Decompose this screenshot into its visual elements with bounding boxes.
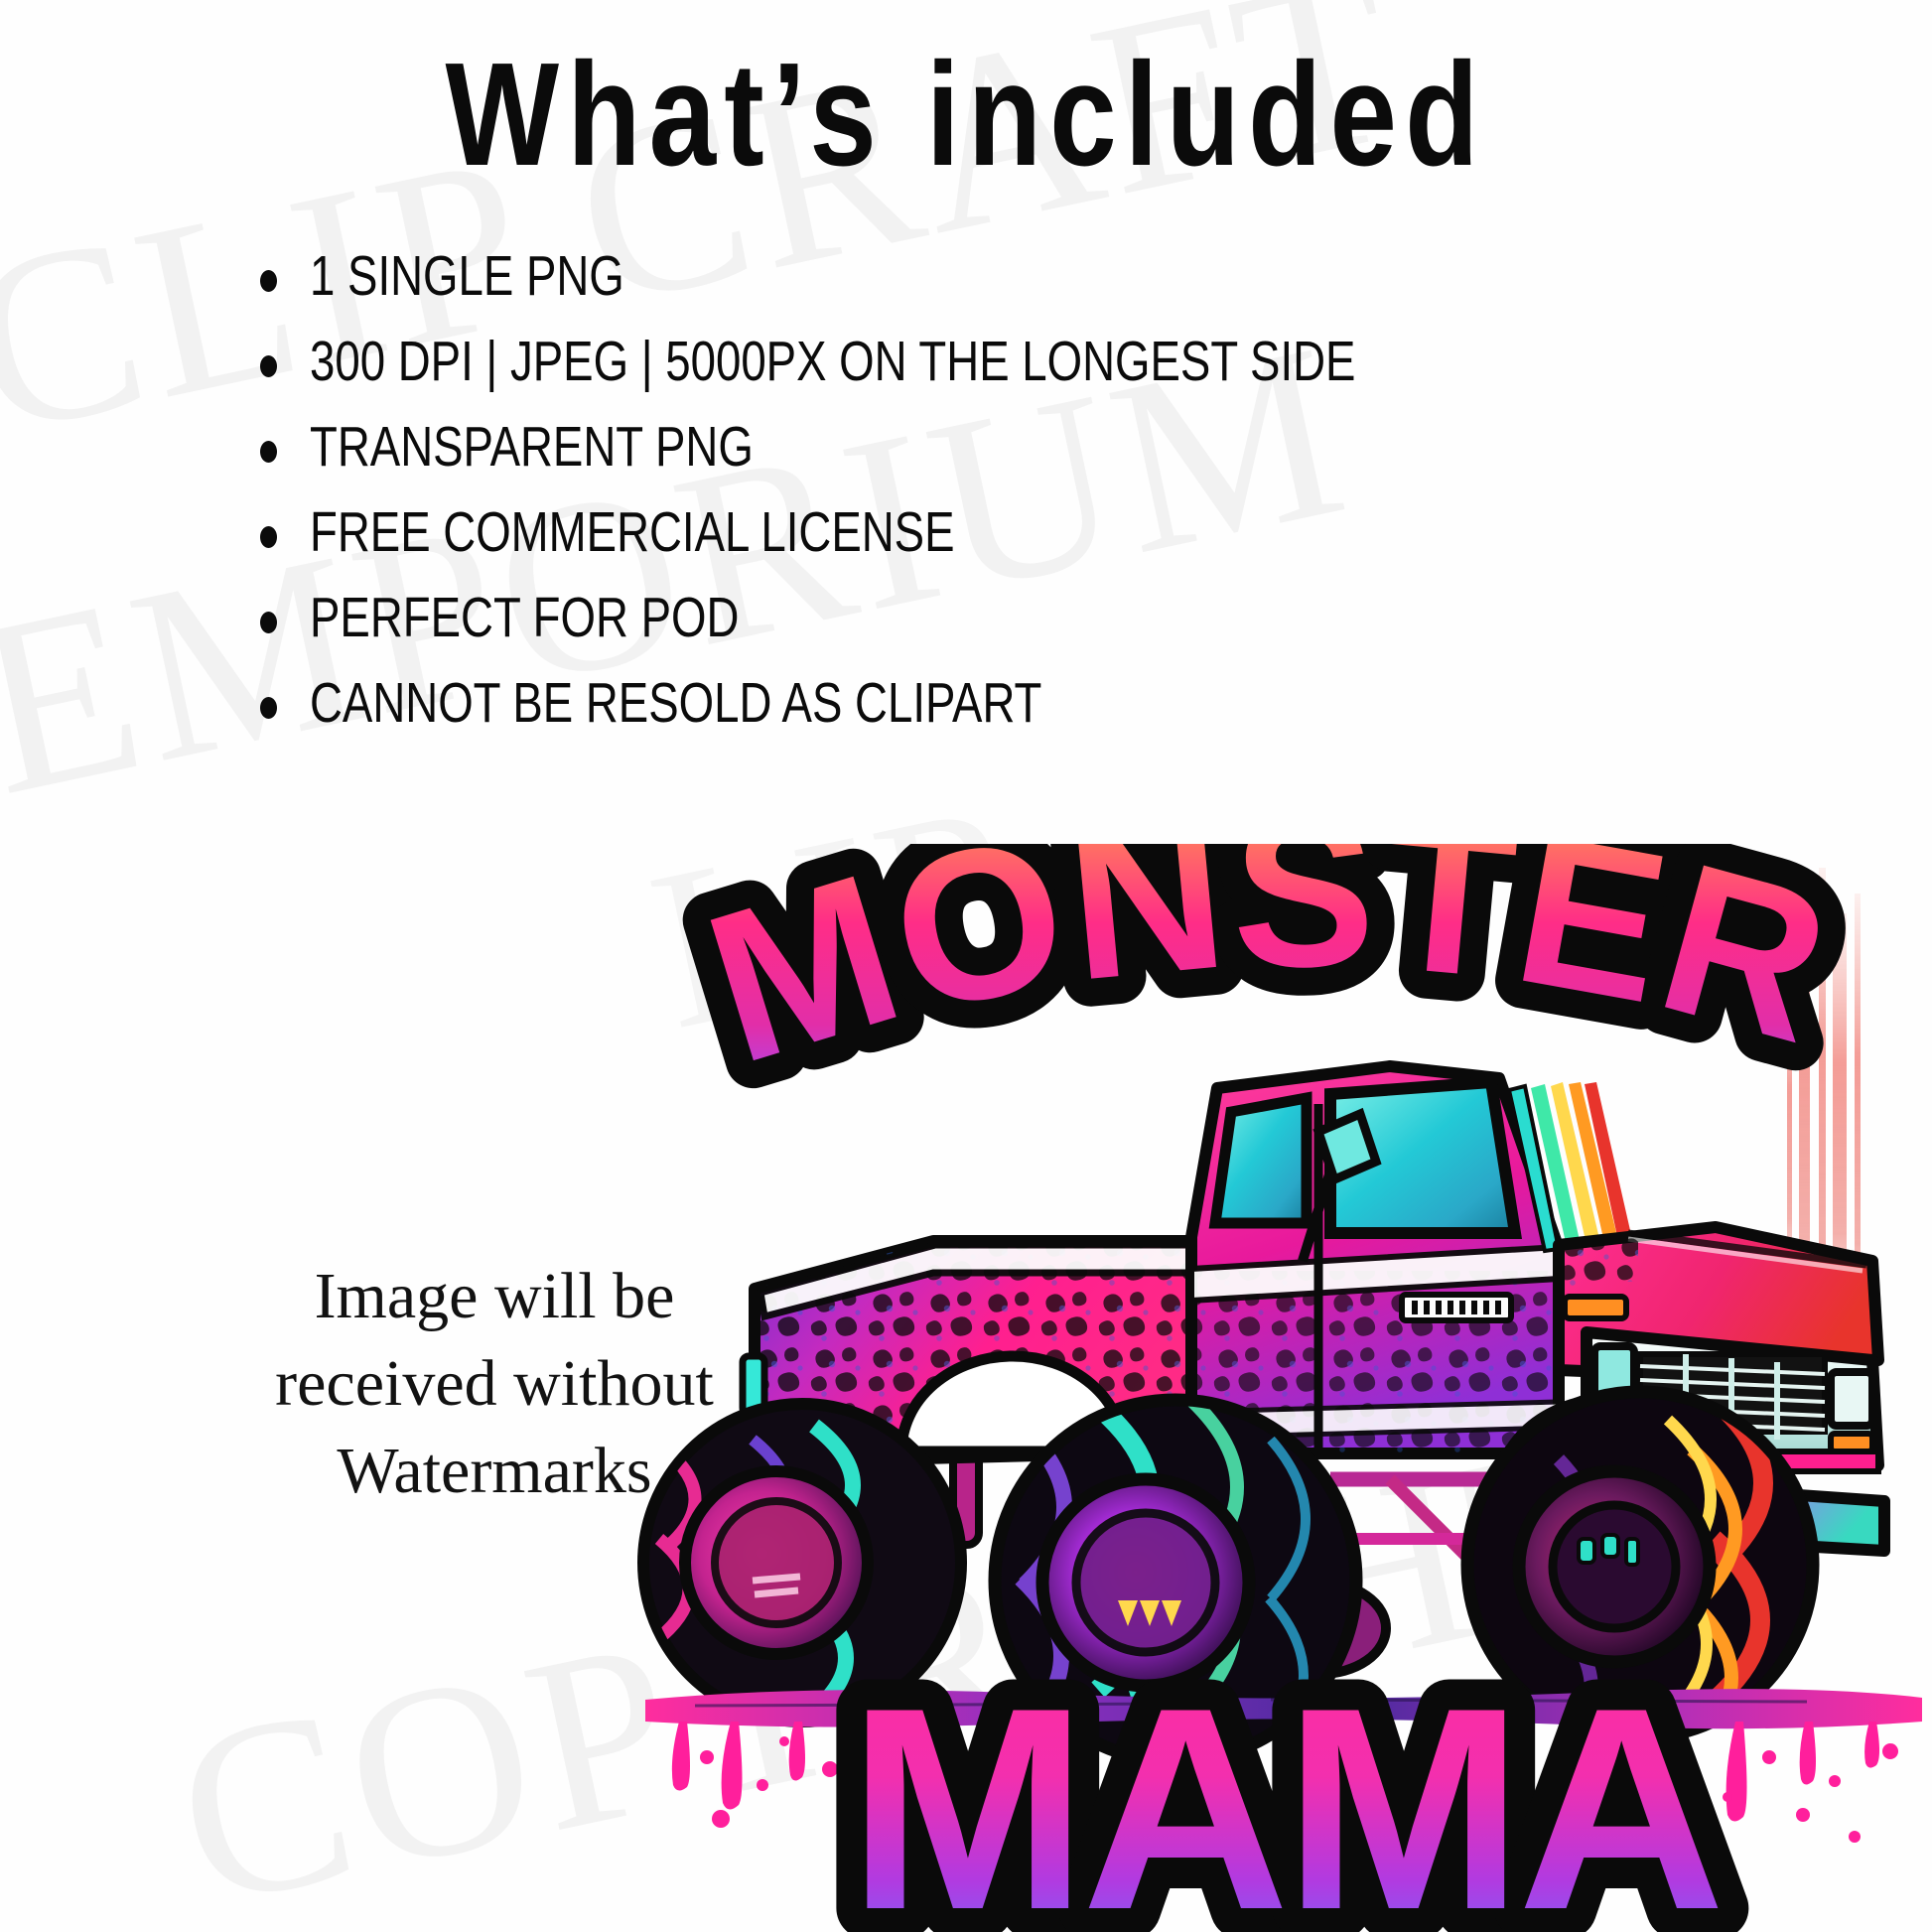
watermark-note-line-2: received without [197,1340,792,1428]
list-item-label: 300 DPI | JPEG | 5000PX ON THE LONGEST S… [310,332,1355,391]
page-title: What’s included [174,42,1758,189]
svg-text:MONSTER: MONSTER [683,844,1853,1108]
svg-text:MAMA: MAMA [848,1648,1720,1932]
list-item: FREE COMMERCIAL LICENSE [260,502,1551,564]
list-item-label: PERFECT FOR POD [310,588,739,647]
bullet-dot-icon [260,355,277,377]
list-item-label: CANNOT BE RESOLD AS CLIPART [310,673,1041,733]
watermark-note: Image will be received without Watermark… [197,1253,792,1515]
list-item: TRANSPARENT PNG [260,417,1551,479]
artwork-word-monster: MONSTER MONSTER [683,844,1853,1108]
watermark-note-line-1: Image will be [197,1253,792,1340]
list-item-label: FREE COMMERCIAL LICENSE [310,502,955,562]
artwork-word-mama: MAMA MAMA [848,1648,1720,1932]
bullet-dot-icon [260,697,277,719]
list-item: 300 DPI | JPEG | 5000PX ON THE LONGEST S… [260,332,1551,393]
list-item-label: 1 SINGLE PNG [310,246,624,306]
bullet-dot-icon [260,441,277,463]
bullet-dot-icon [260,270,277,292]
list-item: PERFECT FOR POD [260,588,1551,649]
list-item-label: TRANSPARENT PNG [310,417,754,477]
list-item: 1 SINGLE PNG [260,246,1551,308]
features-list: 1 SINGLE PNG 300 DPI | JPEG | 5000PX ON … [260,246,1551,759]
product-listing-page: CLIP CRAFT EMPORIUM LIP COPYRIGHT What’s… [0,0,1932,1932]
bullet-dot-icon [260,526,277,548]
list-item: CANNOT BE RESOLD AS CLIPART [260,673,1551,735]
design-artwork: MONSTER MONSTER [635,844,1932,1932]
bullet-dot-icon [260,612,277,633]
watermark-note-line-3: Watermarks [197,1428,792,1515]
